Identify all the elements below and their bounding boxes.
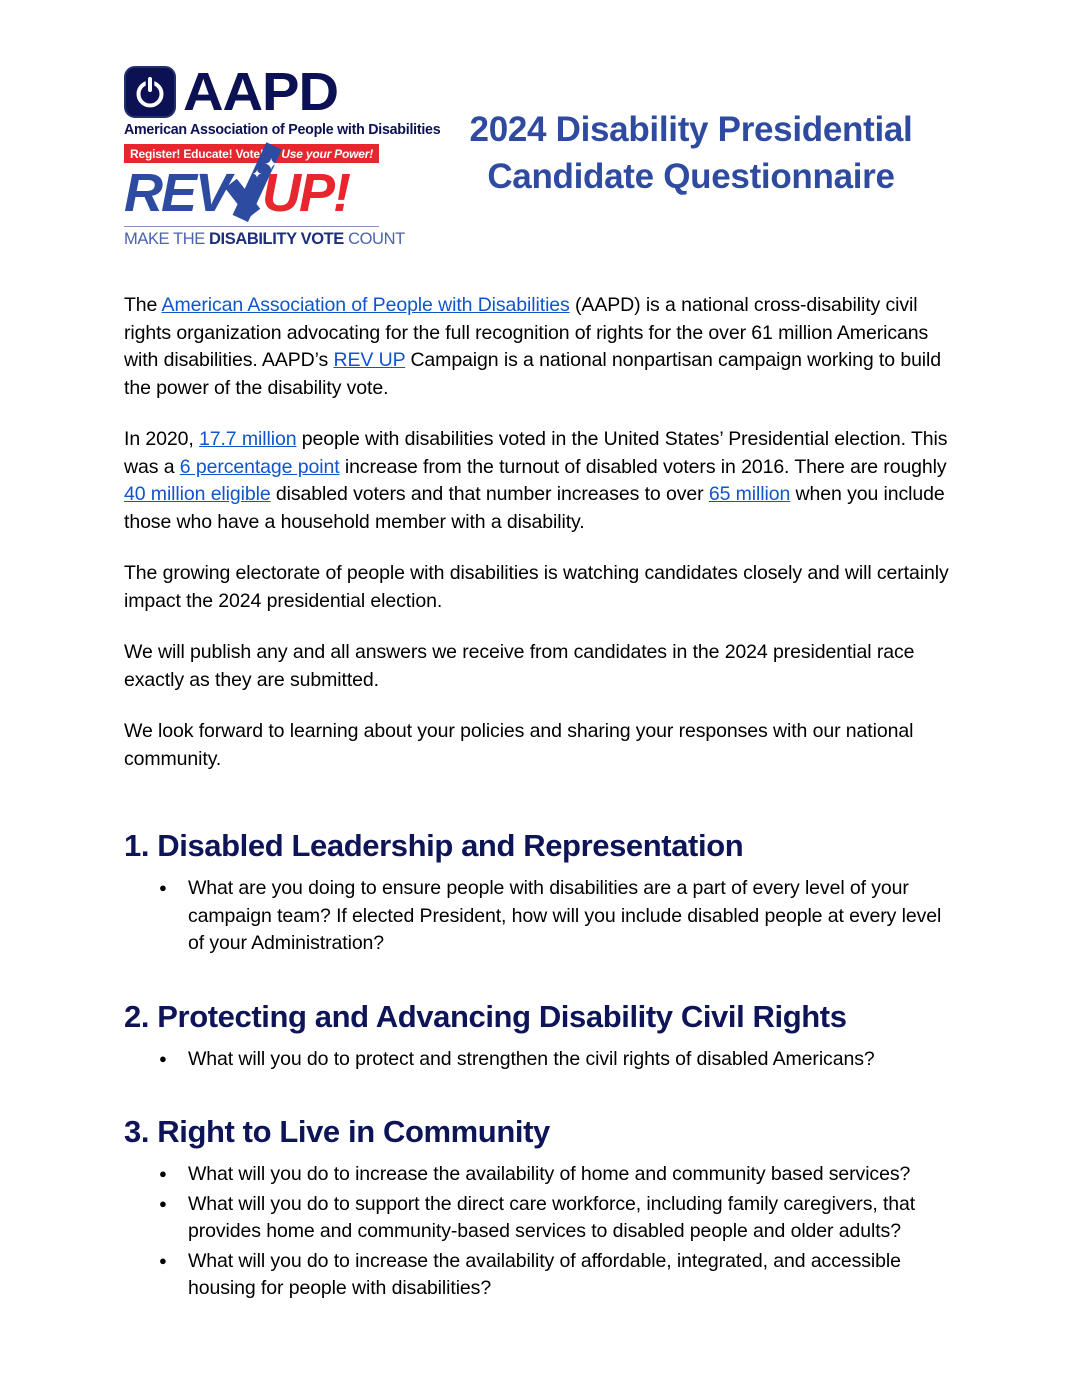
section-3-questions: What will you do to increase the availab… (124, 1161, 956, 1303)
revup-footer-bold: DISABILITY VOTE (209, 230, 344, 248)
revup-banner: Register! Educate! Vote! Use your Power! (124, 144, 379, 163)
document-header: AAPD American Association of People with… (124, 58, 964, 252)
intro-paragraph-4: We will publish any and all answers we r… (124, 639, 956, 694)
section-2-questions: What will you do to protect and strength… (124, 1046, 956, 1074)
revup-divider (124, 226, 379, 227)
section-2: 2. Protecting and Advancing Disability C… (124, 998, 956, 1074)
aapd-logo: AAPD (124, 64, 394, 120)
power-icon (124, 66, 176, 118)
section-1-heading: 1. Disabled Leadership and Representatio… (124, 827, 956, 865)
revup-banner-right: Use your Power! (281, 147, 373, 161)
p2-s3: increase from the turnout of disabled vo… (340, 456, 947, 478)
link-17-7-million[interactable]: 17.7 million (199, 428, 296, 450)
link-40-million-eligible[interactable]: 40 million eligible (124, 483, 271, 505)
revup-logo: Register! Educate! Vote! Use your Power!… (124, 144, 382, 252)
document-page: AAPD American Association of People with… (0, 0, 1082, 1394)
aapd-revup-logo: AAPD American Association of People with… (124, 58, 394, 252)
list-item: What will you do to increase the availab… (188, 1161, 956, 1189)
list-item: What will you do to increase the availab… (188, 1248, 956, 1303)
intro-paragraph-5: We look forward to learning about your p… (124, 718, 956, 773)
revup-up-text: UP! (262, 164, 349, 222)
checkmark-short-stroke (225, 179, 260, 218)
intro-paragraph-1: The American Association of People with … (124, 292, 956, 402)
revup-footer-prefix: MAKE THE (124, 230, 209, 248)
p2-s1: In 2020, (124, 428, 199, 450)
link-65-million[interactable]: 65 million (709, 483, 790, 505)
p1-before: The (124, 294, 162, 316)
link-revup[interactable]: REV UP (333, 349, 405, 371)
list-item: What are you doing to ensure people with… (188, 875, 956, 958)
revup-banner-left: Register! Educate! Vote! (130, 147, 264, 161)
revup-rev-text: REV (124, 164, 229, 222)
intro-paragraph-3: The growing electorate of people with di… (124, 560, 956, 615)
link-6-percentage-point[interactable]: 6 percentage point (180, 456, 340, 478)
section-3-heading: 3. Right to Live in Community (124, 1113, 956, 1151)
list-item: What will you do to protect and strength… (188, 1046, 956, 1074)
section-2-heading: 2. Protecting and Advancing Disability C… (124, 998, 956, 1036)
revup-footer-suffix: COUNT (344, 230, 405, 248)
p2-s4: disabled voters and that number increase… (271, 483, 709, 505)
intro-paragraph-2: In 2020, 17.7 million people with disabi… (124, 426, 956, 536)
document-body: The American Association of People with … (124, 292, 956, 1305)
document-title-line-2: Candidate Questionnaire (418, 153, 964, 200)
section-1-questions: What are you doing to ensure people with… (124, 875, 956, 958)
section-3: 3. Right to Live in Community What will … (124, 1113, 956, 1303)
document-title-line-1: 2024 Disability Presidential (418, 106, 964, 153)
list-item: What will you do to support the direct c… (188, 1191, 956, 1246)
revup-wordmark: REV ✦ ✦ UP! (124, 164, 382, 222)
revup-footer: MAKE THE DISABILITY VOTE COUNT (124, 230, 382, 249)
power-icon-stem (148, 77, 152, 92)
star-icon-small: ✦ (252, 168, 262, 180)
section-1: 1. Disabled Leadership and Representatio… (124, 827, 956, 958)
aapd-wordmark: AAPD (183, 65, 338, 119)
aapd-tagline: American Association of People with Disa… (124, 122, 393, 138)
page-title: 2024 Disability Presidential Candidate Q… (394, 58, 964, 200)
link-aapd[interactable]: American Association of People with Disa… (162, 294, 570, 316)
